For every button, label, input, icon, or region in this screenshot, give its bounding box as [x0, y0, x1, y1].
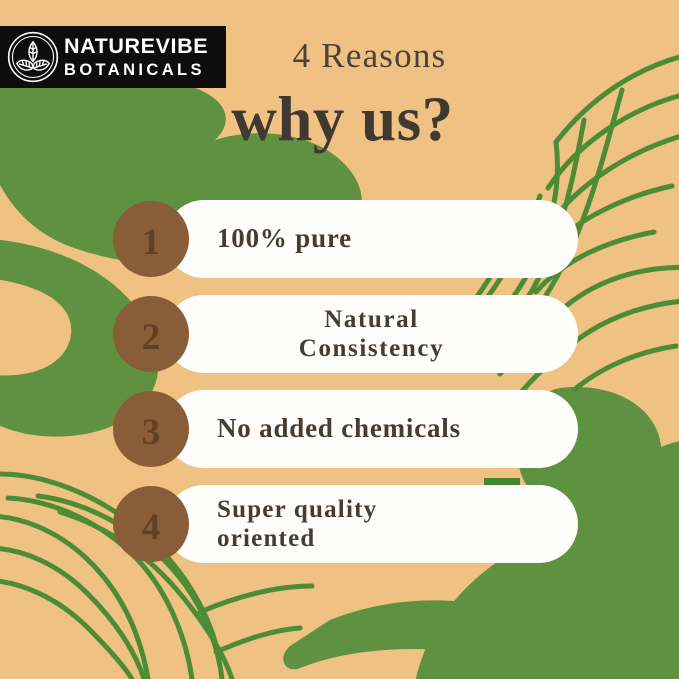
brand-wordmark: NATUREVIBE BOTANICALS	[64, 36, 208, 78]
reason-badge-4: 4	[113, 486, 189, 562]
reason-line2: Consistency	[205, 334, 538, 364]
reason-line1: 100% pure	[217, 223, 352, 253]
reason-text-3: No added chemicals	[165, 413, 578, 445]
reason-badge-1: 1	[113, 201, 189, 277]
poster-canvas: NATUREVIBE BOTANICALS 4 Reasons why us? …	[0, 0, 679, 679]
reason-line1: Natural	[324, 306, 419, 333]
trefoil-leaf-emblem-icon	[6, 30, 60, 84]
reason-badge-3: 3	[113, 391, 189, 467]
list-item: Super quality oriented 4	[0, 485, 679, 563]
brand-name-secondary: BOTANICALS	[64, 62, 208, 79]
page-title: why us?	[6, 88, 679, 151]
reason-line2: oriented	[217, 524, 552, 554]
brand-name-primary: NATUREVIBE	[64, 36, 208, 58]
reason-pill-2: Natural Consistency	[165, 295, 578, 373]
reasons-list: 100% pure 1 Natural Consistency 2 No add	[0, 200, 679, 580]
reason-pill-1: 100% pure	[165, 200, 578, 278]
list-item: 100% pure 1	[0, 200, 679, 278]
list-item: Natural Consistency 2	[0, 295, 679, 373]
reason-text-1: 100% pure	[165, 223, 578, 255]
reason-pill-4: Super quality oriented	[165, 485, 578, 563]
reason-pill-3: No added chemicals	[165, 390, 578, 468]
reason-number-3: 3	[142, 414, 161, 451]
leaf-shape-bottom-mid	[283, 600, 560, 669]
reason-number-2: 2	[142, 319, 161, 356]
reason-badge-2: 2	[113, 296, 189, 372]
reason-number-1: 1	[142, 224, 161, 261]
reason-line1: No added chemicals	[217, 413, 461, 443]
reason-text-2: Natural Consistency	[165, 305, 578, 364]
reason-line1: Super quality	[217, 496, 377, 523]
reason-number-4: 4	[142, 509, 161, 546]
list-item: No added chemicals 3	[0, 390, 679, 468]
reason-text-4: Super quality oriented	[165, 495, 578, 554]
brand-logo-banner: NATUREVIBE BOTANICALS	[0, 26, 226, 88]
